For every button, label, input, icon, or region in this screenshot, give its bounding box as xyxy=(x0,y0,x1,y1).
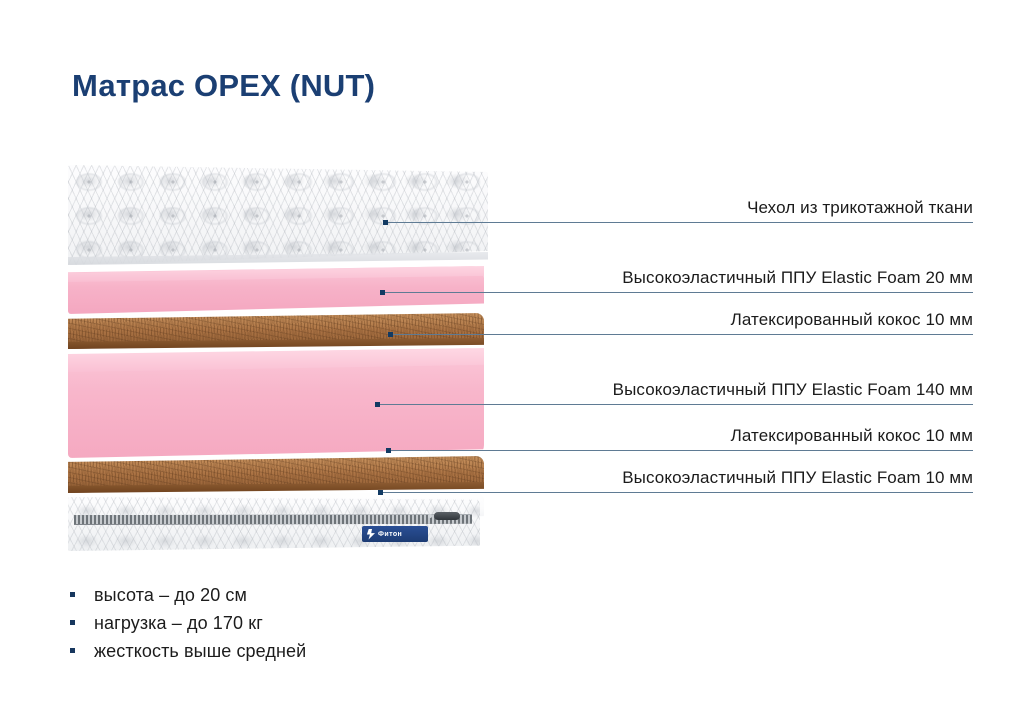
layer-coir-lower xyxy=(68,456,484,493)
bullet-icon xyxy=(70,648,75,653)
callout-label-cover-top: Чехол из трикотажной ткани xyxy=(747,198,973,218)
callout-label-foam-10: Высокоэластичный ППУ Elastic Foam 10 мм xyxy=(622,468,973,488)
callout-label-foam-140: Высокоэластичный ППУ Elastic Foam 140 мм xyxy=(613,380,973,400)
bullet-icon xyxy=(70,592,75,597)
layer-cover-bottom: Фитон xyxy=(68,497,480,551)
page-title: Матрас ОРЕХ (NUT) xyxy=(72,68,375,104)
spec-label-firmness: жесткость выше средней xyxy=(94,641,306,662)
layer-foam-140 xyxy=(68,348,484,458)
list-item: жесткость выше средней xyxy=(70,641,306,662)
callout-line xyxy=(378,492,973,493)
layer-coir-upper xyxy=(68,313,484,349)
zipper-stop-icon xyxy=(428,514,432,518)
callout-marker xyxy=(388,332,393,337)
cover-top-quilt-texture xyxy=(68,165,488,265)
spec-list: высота – до 20 см нагрузка – до 170 кг ж… xyxy=(70,585,306,669)
layer-cover-top xyxy=(68,165,488,265)
callout-marker xyxy=(386,448,391,453)
spec-label-height: высота – до 20 см xyxy=(94,585,247,606)
callout-label-coir-lower: Латексированный кокос 10 мм xyxy=(731,426,973,446)
callout-label-foam-20: Высокоэластичный ППУ Elastic Foam 20 мм xyxy=(622,268,973,288)
brand-tag: Фитон xyxy=(362,526,428,542)
infographic-canvas: Матрас ОРЕХ (NUT) xyxy=(0,0,1024,724)
zipper-strip xyxy=(74,514,472,525)
bullet-icon xyxy=(70,620,75,625)
brand-tag-label: Фитон xyxy=(378,531,402,538)
zipper-pull-icon xyxy=(434,512,460,520)
callout-marker xyxy=(383,220,388,225)
callout-line xyxy=(383,222,973,223)
callout-marker xyxy=(378,490,383,495)
callout-marker xyxy=(380,290,385,295)
callout-marker xyxy=(375,402,380,407)
layer-foam-20 xyxy=(68,266,484,314)
spec-label-load: нагрузка – до 170 кг xyxy=(94,613,263,634)
list-item: высота – до 20 см xyxy=(70,585,306,606)
callout-line xyxy=(386,450,973,451)
callout-line xyxy=(375,404,973,405)
list-item: нагрузка – до 170 кг xyxy=(70,613,306,634)
callout-line xyxy=(388,334,973,335)
brand-mark-icon xyxy=(366,529,375,540)
callout-label-coir-upper: Латексированный кокос 10 мм xyxy=(731,310,973,330)
callout-line xyxy=(380,292,973,293)
